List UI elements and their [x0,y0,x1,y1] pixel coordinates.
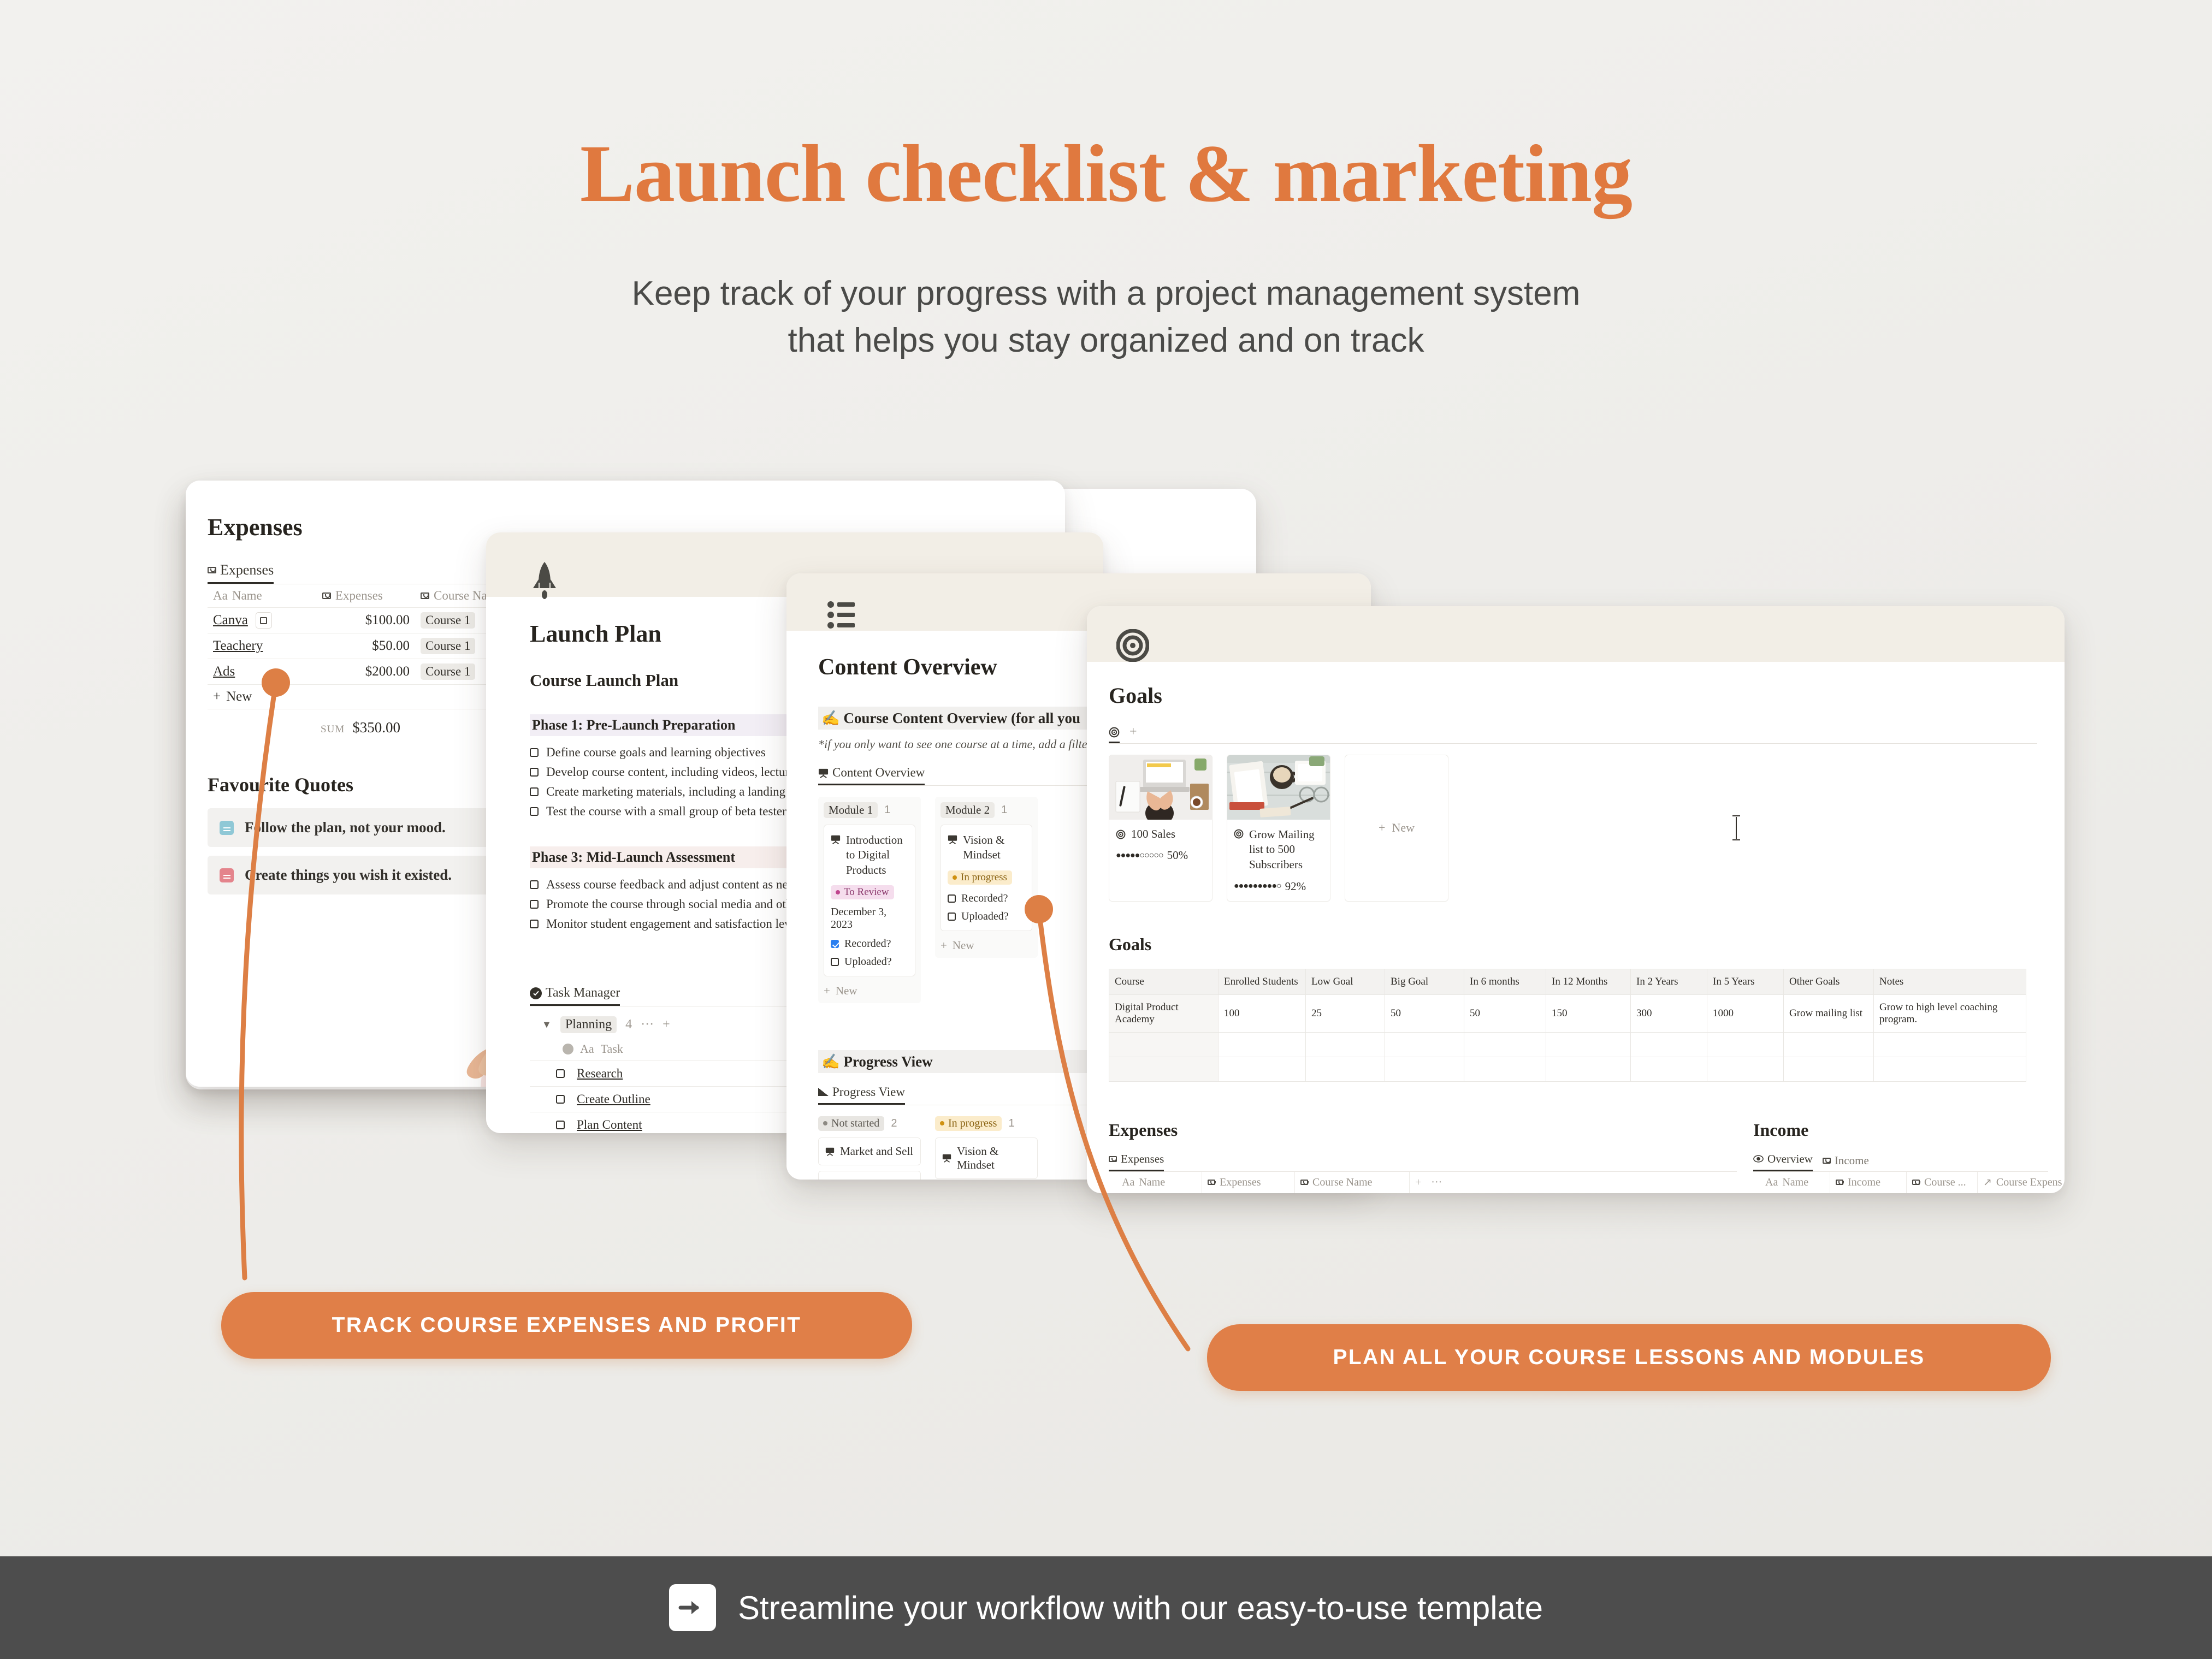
cell-enrolled-students[interactable]: 100 [1219,994,1306,1032]
aa-icon: Aa [580,1042,594,1056]
goal-card[interactable]: Grow Mailing list to 500 Subscribers ●●●… [1227,755,1330,902]
board-card[interactable]: Introduction to Digital Products To Revi… [824,825,915,976]
row-amount[interactable]: $50.00 [317,634,415,658]
board-card[interactable]: Market and Sell [818,1137,921,1165]
board-card-title: Vision & Mindset [957,1145,1031,1172]
cell-empty[interactable] [1546,1032,1631,1057]
group-count: 2 [891,1117,897,1130]
col-income: Income [1848,1176,1880,1189]
row-task[interactable]: Plan Content [577,1118,642,1132]
status-label: To Review [844,886,889,898]
group-label[interactable]: Module 2 [941,802,995,818]
group-label-text: Not started [831,1117,879,1130]
plus-icon[interactable]: + [1415,1176,1421,1189]
progress-dots: ●●●●●●●●●○ [1234,881,1281,891]
col-expenses: Expenses [335,589,383,603]
check-label: Recorded? [961,892,1008,905]
row-course-chip[interactable]: Course 1 [421,612,475,629]
checkbox[interactable] [530,880,539,889]
goals-title: Goals [1109,683,2065,708]
goal-percent: 92% [1285,880,1306,893]
quote-text: Follow the plan, not your mood. [245,819,446,836]
cell-empty[interactable] [1707,1032,1784,1057]
row-task[interactable]: Create Outline [577,1092,650,1106]
tab-expenses-label: Expenses [1121,1152,1164,1166]
add-goal-view-button[interactable]: + [1129,725,1137,743]
tab-expenses[interactable]: Expenses [208,562,274,584]
income-tabbar: Overview Income [1753,1152,2048,1172]
col-in-2-years: In 2 Years [1631,969,1707,994]
arrow-into-box-icon [669,1584,716,1631]
quote-text: Create things you wish it existed. [245,867,452,884]
board-card-title: Vision & Mindset [963,833,1025,863]
col-other-goals: Other Goals [1784,969,1874,994]
row-amount[interactable]: $100.00 [317,608,415,632]
board-column: Module 2 1 Vision & Mindset I [935,797,1038,958]
goals-gallery-tabbar: + [1109,725,2037,744]
group-count: 4 [625,1017,632,1032]
table-row[interactable]: Digital Product Academy 100 25 50 50 150… [1109,994,2026,1032]
checklist-label: Define course goals and learning objecti… [546,745,766,760]
group-label-text: In progress [948,1117,997,1130]
tab-expenses[interactable]: Expenses [1109,1152,1164,1171]
col-in-6-months: In 6 months [1464,969,1546,994]
goal-name: Grow Mailing list to 500 Subscribers [1249,827,1323,872]
tab-task-manager[interactable]: Task Manager [530,986,620,1006]
arrow-up-right-icon: ↗ [1983,1176,1992,1189]
rocket-icon [530,561,559,603]
cell-empty[interactable] [1385,1057,1464,1081]
group-label[interactable]: Module 1 [824,802,878,818]
checkbox[interactable] [556,1069,565,1078]
col-expenses: Expenses [1220,1176,1261,1189]
add-new-card-button[interactable]: + New [941,939,1032,952]
checkbox[interactable] [530,787,539,796]
callout-track-expenses[interactable]: TRACK COURSE EXPENSES AND PROFIT [221,1292,912,1359]
card-cover [1087,606,2065,662]
add-new-row-button[interactable]: + New [208,685,513,709]
lesson-icon [831,834,841,844]
tab-income[interactable]: Income [1823,1154,1869,1171]
row-name[interactable]: Teachery [213,638,263,653]
checkbox[interactable] [530,748,539,757]
goal-card[interactable]: 100 Sales ●●●●●○○○○○ 50% [1109,755,1213,902]
expenses-table: Aa Name Expenses Course Name + [1109,1172,1737,1193]
checkbox[interactable] [831,958,839,966]
sum-row: SUM $350.00 [208,709,513,746]
goals-card[interactable]: Goals + [1087,606,2065,1193]
desk-laptop-photo [1109,755,1212,820]
tab-expenses-label: Expenses [220,562,274,578]
checklist-label: Monitor student engagement and satisfact… [546,917,805,931]
cell-empty[interactable] [1109,1032,1219,1057]
board-card-title: Introduction to Digital Products [846,833,908,878]
cell-empty[interactable] [1109,1057,1219,1081]
checklist-label: Assess course feedback and adjust conten… [546,878,812,892]
text-cursor [1736,817,1737,839]
cell-empty[interactable] [1464,1032,1546,1057]
cell-empty[interactable] [1874,1057,2026,1081]
chevron-down-icon[interactable]: ▼ [542,1019,552,1030]
col-name: Name [232,589,262,603]
check-label: Uploaded? [961,910,1009,923]
goals-table: Course Enrolled Students Low Goal Big Go… [1109,969,2026,1082]
cell-notes[interactable]: Grow to high level coaching program. [1874,994,2026,1032]
tab-content-overview-label: Content Overview [832,766,925,780]
cell-empty[interactable] [1631,1032,1707,1057]
group-label[interactable]: In progress [935,1116,1002,1131]
money-icon [1109,1156,1117,1162]
col-course-expenses: Course Expens [1996,1176,2062,1189]
tab-content-overview[interactable]: Content Overview [818,766,925,785]
tab-goals-gallery[interactable] [1109,727,1120,743]
table-row[interactable]: Canva $100.00 Course 1 [208,608,513,633]
board-column: Not started 2 Market and Sell [818,1116,921,1180]
aa-icon: Aa [1765,1176,1778,1189]
plus-icon: + [824,984,830,998]
new-label: New [953,939,974,952]
cell-empty[interactable] [1219,1032,1306,1057]
checkbox[interactable] [831,940,839,948]
money-icon [1912,1180,1920,1185]
goals-gallery: 100 Sales ●●●●●○○○○○ 50% [1109,755,2065,902]
target-icon [1109,727,1120,738]
tab-task-manager-label: Task Manager [546,986,620,1000]
expenses-table: Aa Name Expenses Course Nam Canva [208,584,513,746]
col-course-name: Course Name [1312,1176,1372,1189]
cell-in-12-months[interactable]: 150 [1546,994,1631,1032]
cell-empty[interactable] [1784,1057,1874,1081]
subtitle-line-2: that helps you stay organized and on tra… [0,317,2212,364]
check-label: Recorded? [844,938,891,950]
cell-empty[interactable] [1219,1057,1306,1081]
cell-empty[interactable] [1784,1032,1874,1057]
table-header-row: Aa Name Income Course ... ↗ [1753,1172,2065,1193]
income-heading: Income [1753,1120,2048,1140]
target-icon [1116,829,1126,839]
lesson-icon [825,1147,835,1156]
cell-empty[interactable] [1385,1032,1464,1057]
sum-value: $350.00 [352,719,400,736]
cell-in-6-months[interactable]: 50 [1464,994,1546,1032]
note-icon [220,821,234,835]
table-header-row: Aa Name Expenses Course Name + [1109,1172,1737,1193]
more-icon[interactable]: ··· [641,1017,654,1032]
tab-overview-label: Overview [1767,1152,1813,1166]
goal-percent: 50% [1167,849,1188,862]
col-name: Name [1782,1176,1808,1189]
bullet-list-icon [827,600,857,630]
goals-income-section: Income Overview Income [1753,1120,2048,1193]
footer-bar: Streamline your workflow with our easy-t… [0,1556,2212,1659]
check-circle-icon [530,987,542,999]
plus-icon[interactable]: + [663,1017,670,1032]
board-column: In progress 1 Vision & Mindset + New [935,1116,1038,1180]
lesson-icon [942,1153,951,1163]
checkbox[interactable] [556,1121,565,1129]
bar-icon [818,1088,829,1096]
cell-empty[interactable] [1306,1032,1385,1057]
cell-other-goals[interactable]: Grow mailing list [1784,994,1874,1032]
status-badge[interactable]: To Review [831,885,894,899]
checkbox[interactable] [530,768,539,777]
cell-empty[interactable] [1546,1057,1631,1081]
row-course-chip[interactable]: Course 1 [421,638,475,654]
callout-label: PLAN ALL YOUR COURSE LESSONS AND MODULES [1333,1346,1925,1370]
cell-low-goal[interactable]: 25 [1306,994,1385,1032]
col-course: Course [1109,969,1219,994]
money-icon [208,567,216,573]
check-circle-icon [563,1044,573,1054]
col-big-goal: Big Goal [1385,969,1464,994]
goal-name: 100 Sales [1131,827,1175,841]
plus-icon: + [941,939,947,952]
checkbox[interactable] [530,920,539,928]
expenses-heading: Expenses [1109,1120,1753,1140]
goals-table-section: Goals Course Enrolled Students Low Goal … [1109,934,2037,1082]
row-task[interactable]: Research [577,1066,623,1081]
status-badge[interactable]: In progress [948,870,1012,885]
table-row[interactable]: Teachery $50.00 Course 1 [208,633,513,659]
add-new-card-button[interactable]: + New [824,984,915,998]
plus-icon: + [1129,725,1137,739]
board-card-date: December 3, 2023 [831,906,908,931]
goals-table-heading: Goals [1109,934,2037,955]
more-icon[interactable]: ··· [1431,1176,1442,1189]
group-label[interactable]: Planning [560,1016,617,1033]
plus-icon: + [213,689,221,704]
cell-empty[interactable] [1631,1057,1707,1081]
cell-course[interactable]: Digital Product Academy [1109,994,1219,1032]
income-table: Aa Name Income Course ... ↗ [1753,1172,2065,1193]
money-icon [1823,1158,1831,1164]
tab-overview[interactable]: Overview [1753,1152,1813,1171]
table-header-row: Aa Name Expenses Course Nam [208,584,513,608]
table-row[interactable]: Ads $200.00 Course 1 [208,659,513,685]
board-card[interactable]: Vision & Mindset [935,1137,1038,1179]
board-card[interactable]: Launch your Digital [818,1171,921,1180]
checkbox[interactable] [530,807,539,816]
col-enrolled-students: Enrolled Students [1219,969,1306,994]
row-name[interactable]: Canva [213,613,248,628]
sum-label: SUM [321,724,345,735]
cell-big-goal[interactable]: 50 [1385,994,1464,1032]
money-icon [322,592,331,599]
expenses-tabbar: Expenses [1109,1152,1737,1172]
col-low-goal: Low Goal [1306,969,1385,994]
goals-expenses-section: Expenses Expenses Aa Name [1109,1120,1753,1193]
board-card-title: Launch your Digital [840,1178,914,1180]
board-column: Module 1 1 Introduction to Digital Produ… [818,797,921,1003]
col-in-5-years: In 5 Years [1707,969,1784,994]
table-row[interactable] [1109,1057,2026,1081]
group-label[interactable]: Not started [818,1116,884,1131]
tab-income-label: Income [1835,1154,1869,1168]
footer-text: Streamline your workflow with our easy-t… [738,1589,1543,1627]
group-count: 1 [884,804,890,816]
add-goal-card-button[interactable]: + New [1345,755,1448,902]
row-name[interactable]: Ads [213,664,235,679]
table-row[interactable] [1109,1032,2026,1057]
money-icon [1208,1180,1215,1185]
col-notes: Notes [1874,969,2026,994]
board-card[interactable]: Vision & Mindset In progress Recorded? [941,825,1032,931]
money-icon [421,592,429,599]
checkbox[interactable] [556,1095,565,1104]
money-icon [1836,1180,1843,1185]
target-icon [1234,829,1244,839]
aa-icon: Aa [1122,1176,1134,1189]
row-amount[interactable]: $200.00 [317,660,415,684]
col-name: Name [1139,1176,1165,1189]
checklist-label: Test the course with a small group of be… [546,804,791,819]
target-icon [1116,629,1149,662]
tab-progress-view-label: Progress View [832,1085,905,1099]
new-label: New [836,984,857,998]
cell-in-5-years[interactable]: 1000 [1707,994,1784,1032]
check-label: Uploaded? [844,956,892,968]
col-task: Task [601,1042,623,1056]
new-label: New [226,689,252,704]
books-coffee-photo [1227,755,1330,820]
open-page-icon[interactable] [256,612,272,629]
group-count: 1 [1001,804,1007,816]
callout-label: TRACK COURSE EXPENSES AND PROFIT [332,1313,802,1337]
status-label: In progress [961,872,1007,884]
cell-empty[interactable] [1306,1057,1385,1081]
note-icon [220,868,234,882]
cell-in-2-years[interactable]: 300 [1631,994,1707,1032]
board-card-title: Market and Sell [840,1145,913,1158]
checkbox[interactable] [530,900,539,909]
group-count: 1 [1008,1117,1014,1130]
callout-plan-lessons[interactable]: PLAN ALL YOUR COURSE LESSONS AND MODULES [1207,1324,2051,1391]
checkbox[interactable] [948,894,956,903]
aa-icon: Aa [213,589,228,603]
progress-dots: ●●●●●○○○○○ [1116,851,1163,861]
row-course-chip[interactable]: Course 1 [421,663,475,680]
table-header-row: Course Enrolled Students Low Goal Big Go… [1109,969,2026,994]
col-course: Course ... [1924,1176,1966,1189]
checkbox[interactable] [948,913,956,921]
page-title: Launch checklist & marketing [0,131,2212,217]
cell-empty[interactable] [1874,1032,2026,1057]
tab-progress-view[interactable]: Progress View [818,1085,905,1105]
cell-empty[interactable] [1464,1057,1546,1081]
col-in-12-months: In 12 Months [1546,969,1631,994]
subtitle-line-1: Keep track of your progress with a proje… [0,270,2212,317]
lesson-icon [948,834,957,844]
lesson-icon [818,768,829,778]
money-icon [1300,1180,1308,1185]
new-label: New [1392,821,1415,835]
page-subtitle: Keep track of your progress with a proje… [0,270,2212,364]
cell-empty[interactable] [1707,1057,1784,1081]
plus-icon: + [1379,821,1385,835]
eye-icon [1753,1155,1764,1163]
